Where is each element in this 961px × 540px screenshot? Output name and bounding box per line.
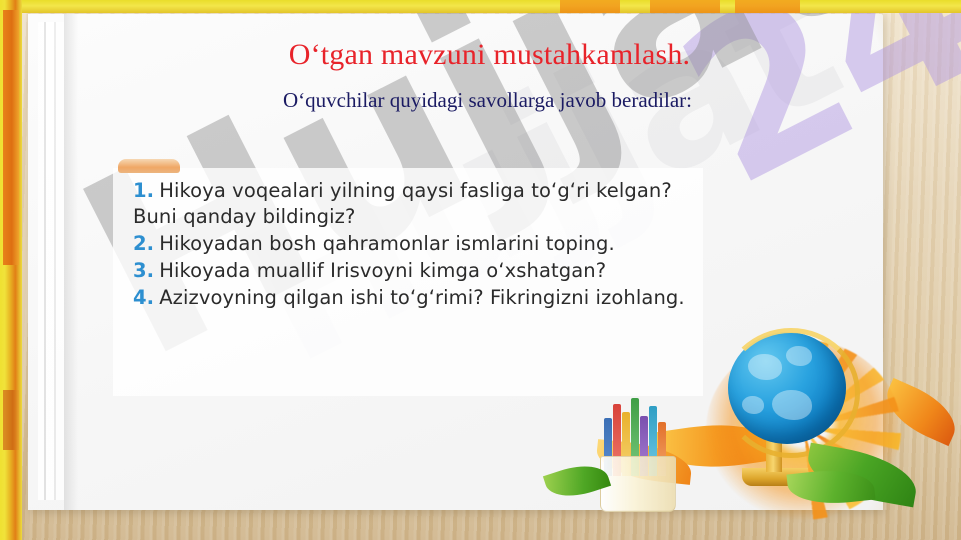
question-text-1: Hikoya voqealari yilning qaysi fasliga t…: [133, 179, 672, 228]
left-border-accent: [3, 10, 19, 265]
question-number-1: 1.: [133, 179, 154, 202]
top-border-accent: [650, 0, 720, 13]
question-number-3: 3.: [133, 259, 154, 282]
presentation-slide: Hujjat 24 Hujjat O‘tgan mavzuni mustahka…: [0, 0, 961, 540]
globe-meridian-ring: [722, 328, 860, 458]
top-border-strip: [0, 0, 961, 13]
question-number-2: 2.: [133, 232, 154, 255]
left-border-accent: [3, 390, 19, 450]
question-item-4: 4.Azizvoyning qilgan ishi to‘g‘rimi? Fik…: [133, 285, 703, 311]
question-item-2: 2.Hikoyadan bosh qahramonlar ismlarini t…: [133, 231, 703, 257]
question-item-1: 1.Hikoya voqealari yilning qaysi fasliga…: [133, 178, 703, 230]
questions-list: 1.Hikoya voqealari yilning qaysi fasliga…: [133, 178, 703, 312]
card-tab-marker: [118, 159, 180, 173]
slide-title: O‘tgan mavzuni mustahkamlash.: [0, 38, 961, 72]
question-item-3: 3.Hikoyada muallif Irisvoyni kimga o‘xsh…: [133, 258, 703, 284]
slide-subtitle: O‘quvchilar quyidagi savollarga javob be…: [0, 88, 961, 113]
question-number-4: 4.: [133, 286, 154, 309]
question-text-3: Hikoyada muallif Irisvoyni kimga o‘xshat…: [159, 259, 606, 282]
top-border-accent: [560, 0, 620, 13]
question-text-2: Hikoyadan bosh qahramonlar ismlarini top…: [159, 232, 615, 255]
top-border-accent: [735, 0, 800, 13]
cup-body: [600, 456, 676, 512]
pencil-cup-icon: [594, 392, 686, 512]
left-border-strip: [0, 0, 22, 540]
question-text-4: Azizvoyning qilgan ishi to‘g‘rimi? Fikri…: [159, 286, 685, 309]
